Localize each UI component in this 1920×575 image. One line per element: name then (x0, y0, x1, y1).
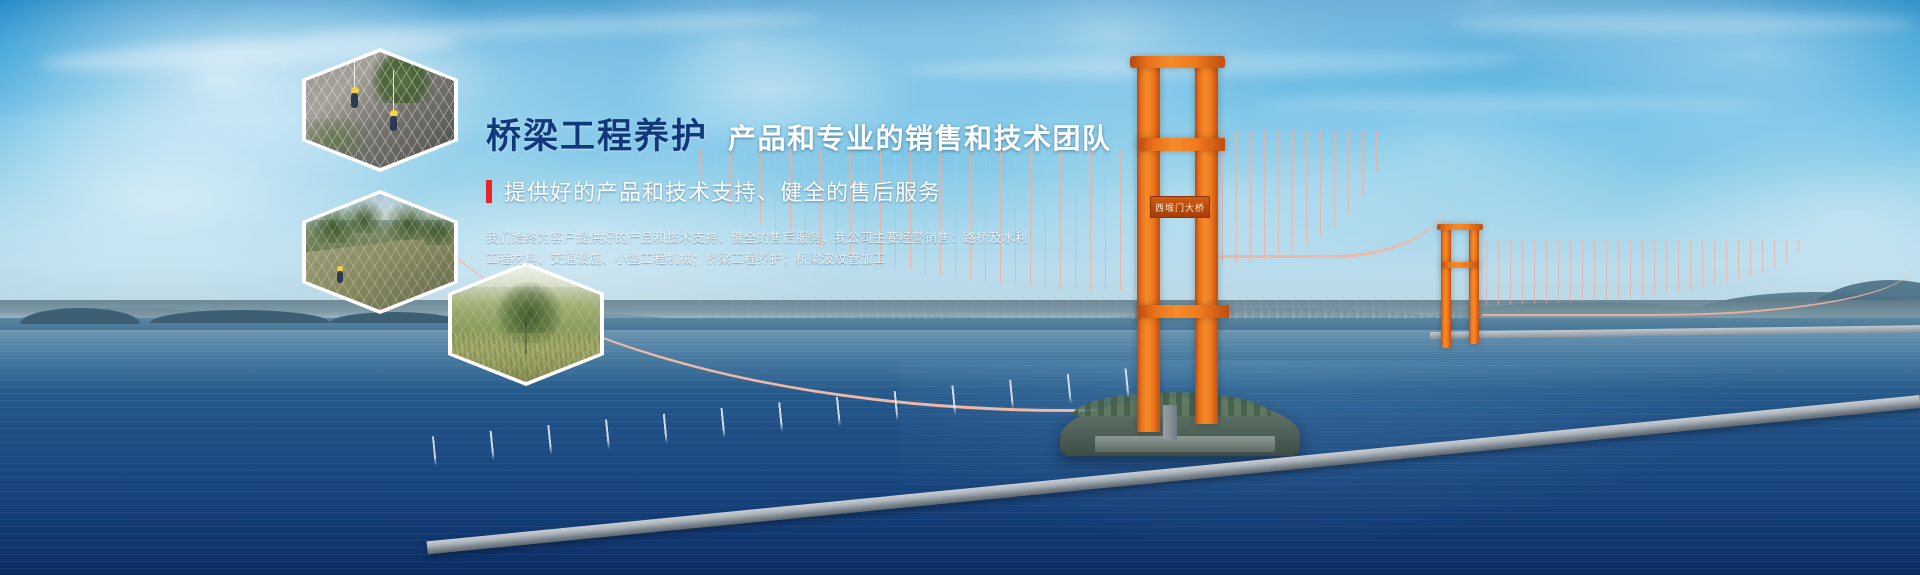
bridge-support-pillar (1163, 405, 1177, 439)
bridge-hangers-far (1486, 240, 1906, 336)
subheadline-text: 提供好的产品和技术支持、健全的售后服务 (504, 175, 941, 207)
helmet-icon (351, 87, 359, 93)
safety-rope (354, 59, 355, 87)
headline-main: 桥梁工程养护 (486, 120, 708, 155)
safety-rope (393, 70, 394, 110)
hex-photo-hillside-mesh (302, 190, 458, 314)
worker-body (351, 93, 358, 108)
protective-mesh-overlay (452, 266, 600, 382)
pier-retaining-wall (1095, 436, 1275, 452)
photo-grass-slope (452, 266, 600, 382)
hex-photo-slope-mesh-workers (302, 48, 458, 172)
accent-bar (486, 180, 492, 203)
bridge-tower-far-leg (1469, 228, 1479, 344)
description-line-1: 我们始终为客户提供好的产品和技术支持、健全的售后服务，我公司主要经营销售：路桥及… (486, 228, 1186, 249)
hex-photo-inner (306, 52, 454, 168)
hero-banner: 西堠门大桥 (0, 0, 1920, 575)
subheadline: 提供好的产品和技术支持、健全的售后服务 (486, 175, 1186, 207)
worker-body (337, 271, 343, 283)
bridge-tower-near-leg-right (1195, 62, 1218, 424)
worker-body (390, 116, 397, 131)
headline-sub: 产品和专业的销售和技术团队 (728, 125, 1112, 153)
description-line-2: 工程材料、交通设施、小型工程机械；桥梁工程养护；桥梁波纹管加工 (486, 249, 1186, 270)
description-paragraph: 我们始终为客户提供好的产品和技术支持、健全的售后服务，我公司主要经营销售：路桥及… (486, 228, 1186, 269)
hex-photo-grass-slope-tree (448, 262, 604, 386)
hex-photo-inner (452, 266, 600, 382)
suspension-bridge: 西堠门大桥 (0, 0, 1920, 575)
banner-text-block: 桥梁工程养护 产品和专业的销售和技术团队 提供好的产品和技术支持、健全的售后服务… (486, 120, 1186, 269)
bridge-tower-near-cap (1130, 56, 1225, 68)
bridge-tower-crossbeam-lower (1137, 305, 1229, 318)
photo-rock-slope (306, 52, 454, 168)
protective-mesh-overlay (306, 52, 454, 168)
hex-photo-inner (306, 194, 454, 310)
photo-hillside (306, 194, 454, 310)
bridge-hangers-right (1222, 130, 1448, 340)
headline: 桥梁工程养护 产品和专业的销售和技术团队 (486, 120, 1186, 155)
protective-mesh-overlay (306, 194, 454, 310)
